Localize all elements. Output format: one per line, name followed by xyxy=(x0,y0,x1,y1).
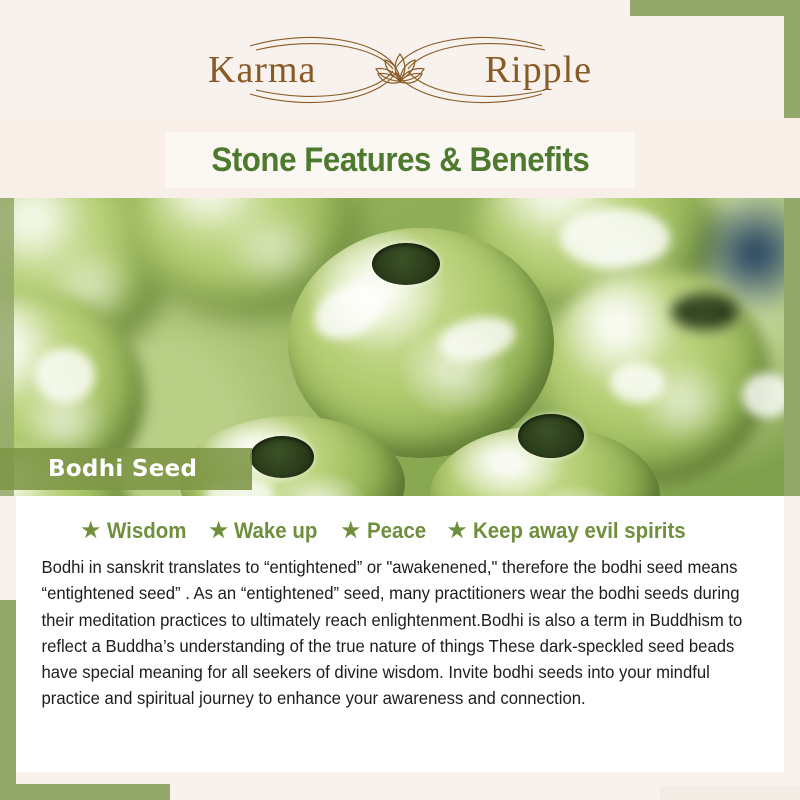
benefit-item: ★ Wake up xyxy=(208,518,324,544)
frame-bottom-left-horizontal xyxy=(0,784,170,800)
bead-hole xyxy=(250,436,314,478)
bead-highlight xyxy=(560,208,670,268)
star-icon: ★ xyxy=(80,519,102,543)
benefit-item: ★ Peace xyxy=(340,518,430,544)
brand-logo: Karma Ripple xyxy=(0,22,800,118)
frame-bottom-right-strip xyxy=(660,786,800,800)
benefit-label: Wisdom xyxy=(107,518,186,544)
star-icon: ★ xyxy=(340,519,362,543)
brand-name-right: Ripple xyxy=(485,51,592,89)
product-label-text: Bodhi Seed xyxy=(48,456,197,482)
product-label: Bodhi Seed xyxy=(0,448,252,490)
content-panel: ★ Wisdom ★ Wake up ★ Peace ★ Keep away e… xyxy=(16,496,784,772)
bead-hole xyxy=(518,414,584,458)
benefit-label: Peace xyxy=(367,518,426,544)
star-icon: ★ xyxy=(208,519,230,543)
bead-highlight xyxy=(610,363,665,403)
benefit-label: Keep away evil spirits xyxy=(473,518,686,544)
benefit-label: Wake up xyxy=(234,518,317,544)
benefit-item: ★ Wisdom xyxy=(80,518,192,544)
photo-right-edge xyxy=(784,198,800,496)
poster-root: Karma Ripple Stone Features & Benefits xyxy=(0,0,800,800)
star-icon: ★ xyxy=(446,519,468,543)
benefit-item: ★ Keep away evil spirits xyxy=(446,518,701,544)
bead-hole xyxy=(672,294,738,330)
brand-name-left: Karma xyxy=(208,51,316,89)
frame-bottom-left-vertical xyxy=(0,600,16,800)
benefits-row: ★ Wisdom ★ Wake up ★ Peace ★ Keep away e… xyxy=(28,518,758,544)
frame-top-right-horizontal xyxy=(630,0,800,16)
bead-highlight xyxy=(35,348,95,403)
description-text: Bodhi in sanskrit translates to “entight… xyxy=(28,554,761,712)
bead-hole-hero xyxy=(372,243,440,285)
page-title: Stone Features & Benefits xyxy=(211,141,589,180)
title-plate: Stone Features & Benefits xyxy=(165,132,635,188)
